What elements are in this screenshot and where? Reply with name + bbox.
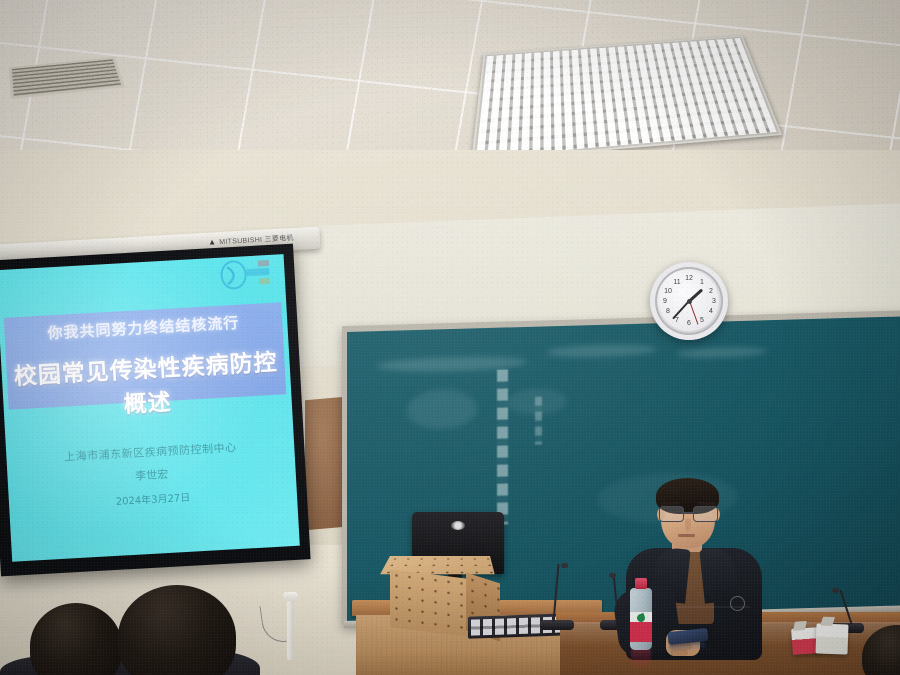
clock-hour-3: 3: [709, 297, 719, 307]
mouth: [678, 534, 695, 537]
jacket-logo-icon: [730, 596, 745, 611]
clock-hour-6: 6: [684, 319, 694, 329]
clock-hour-8: 8: [663, 307, 673, 317]
clock-center-pin: [687, 299, 692, 304]
mitsubishi-logo-icon: ▲: [208, 237, 217, 246]
chalk-writing: [497, 369, 508, 524]
slide-title-line2: 校园常见传染性疾病防控概述: [6, 342, 287, 425]
clock-hour-5: 5: [697, 316, 707, 326]
tissue-box[interactable]: [815, 623, 848, 654]
lectern-front-face: [390, 569, 468, 637]
presentation-slide: 你我共同努力终结结核流行 校园常见传染性疾病防控概述 上海市浦东新区疾病预防控制…: [0, 254, 300, 562]
classroom-photo: ▲MITSUBISHI 三菱电机 你我共同努力终结结核流行 校园常见传染性疾病防…: [0, 0, 900, 675]
projector-screen: 你我共同努力终结结核流行 校园常见传染性疾病防控概述 上海市浦东新区疾病预防控制…: [0, 244, 311, 577]
floor-stand-pole: [287, 598, 294, 660]
clock-hour-4: 4: [706, 307, 716, 317]
eyeglasses-icon: [659, 506, 719, 521]
clock-hour-2: 2: [706, 287, 716, 297]
clock-hour-11: 11: [672, 278, 682, 288]
floor-stand-head: [283, 592, 298, 601]
clock-hour-12: 12: [684, 274, 694, 284]
wall-clock: 12 1 2 3 4 5 6 7 8 9 10 11: [650, 262, 728, 340]
bottle-cap: [635, 578, 647, 589]
clock-hour-10: 10: [663, 287, 673, 297]
clock-hour-9: 9: [660, 297, 670, 307]
slide-title-line1: 你我共同努力终结结核流行: [4, 309, 283, 345]
cdc-logo-icon: [216, 258, 276, 291]
bottle-reflection: [631, 648, 651, 670]
clock-face: 12 1 2 3 4 5 6 7 8 9 10 11: [659, 271, 719, 331]
water-bottle[interactable]: [630, 578, 652, 650]
slide-title-band: 你我共同努力终结结核流行 校园常见传染性疾病防控概述: [4, 302, 287, 409]
microphone: [540, 560, 580, 630]
chalk-writing: [535, 397, 542, 445]
